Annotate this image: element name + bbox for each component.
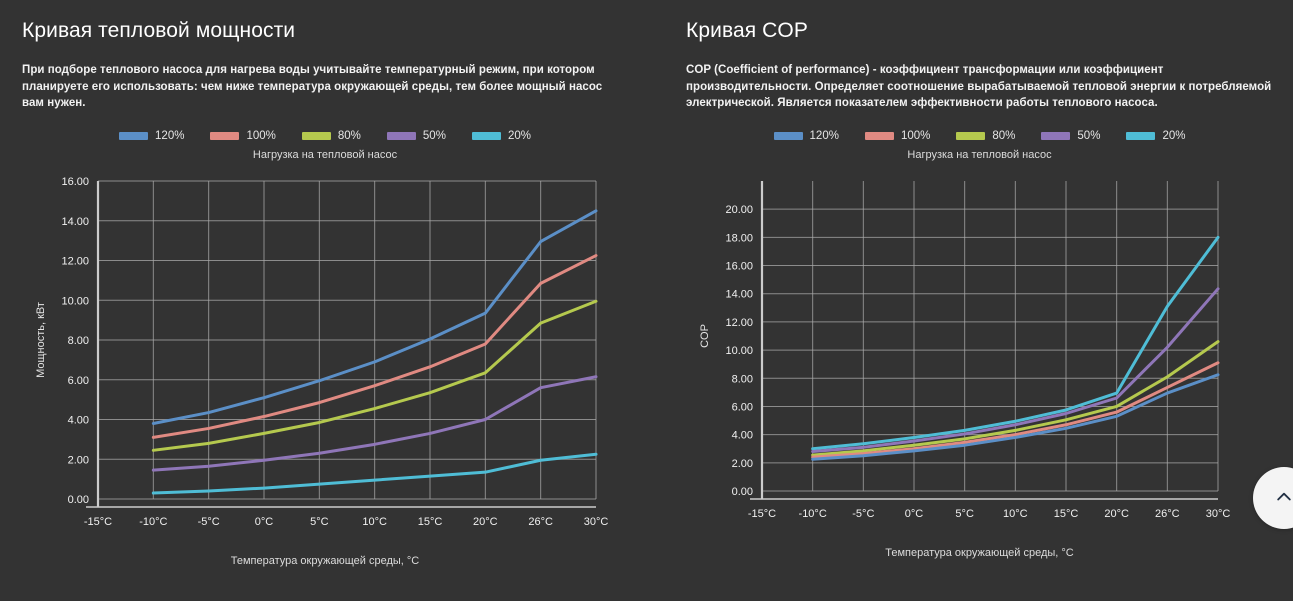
chart-legend: 120%100%80%50%20% [22,130,628,142]
legend-item[interactable]: 80% [302,130,361,142]
y-axis-tick-label: 6.00 [732,401,753,413]
legend-item-label: 50% [1077,130,1100,142]
legend-item[interactable]: 120% [119,130,184,142]
legend-swatch-icon [302,132,331,140]
x-axis-tick-label: -10°C [139,516,167,528]
legend-item-label: 20% [1162,130,1185,142]
legend-swatch-icon [210,132,239,140]
cop-chart-svg: 0.002.004.006.008.0010.0012.0014.0016.00… [686,171,1266,543]
legend-item[interactable]: 50% [1041,130,1100,142]
x-axis-tick-label: -15°C [84,516,112,528]
x-axis-title: Температура окружающей среды, °C [22,555,628,567]
legend-swatch-icon [387,132,416,140]
y-axis-tick-label: 4.00 [68,414,89,426]
legend-item[interactable]: 50% [387,130,446,142]
cop-chart: 0.002.004.006.008.0010.0012.0014.0016.00… [686,171,1273,543]
legend-item-label: 80% [338,130,361,142]
panel-description: COP (Coefficient of performance) - коэфф… [686,62,1273,112]
legend-item-label: 80% [992,130,1015,142]
legend-item[interactable]: 20% [1126,130,1185,142]
y-axis-tick-label: 14.00 [61,215,89,227]
x-axis-tick-label: 20°C [473,516,498,528]
x-axis-tick-label: 5°C [310,516,329,528]
legend-item-label: 50% [423,130,446,142]
legend-swatch-icon [1041,132,1070,140]
cop-panel: Кривая COP COP (Coefficient of performan… [652,0,1293,601]
y-axis-tick-label: 4.00 [732,429,753,441]
y-axis-title: COP [699,324,711,348]
legend-swatch-icon [472,132,501,140]
y-axis-tick-label: 14.00 [725,288,753,300]
x-axis-tick-label: -5°C [198,516,220,528]
x-axis-tick-label: 0°C [905,508,924,520]
heating-capacity-chart-svg: 0.002.004.006.008.0010.0012.0014.0016.00… [22,171,622,551]
y-axis-tick-label: 16.00 [725,260,753,272]
x-axis-tick-label: -10°C [799,508,827,520]
y-axis-tick-label: 10.00 [61,295,89,307]
legend-item[interactable]: 100% [210,130,275,142]
heating-capacity-panel: Кривая тепловой мощности При подборе теп… [0,0,652,601]
y-axis-tick-label: 8.00 [732,373,753,385]
x-axis-tick-label: 10°C [362,516,387,528]
x-axis-tick-label: 26°C [1155,508,1180,520]
legend-item[interactable]: 100% [865,130,930,142]
y-axis-tick-label: 12.00 [61,255,89,267]
x-axis-tick-label: 0°C [255,516,274,528]
x-axis-tick-label: 20°C [1104,508,1129,520]
legend-item-label: 100% [246,130,275,142]
y-axis-tick-label: 0.00 [68,494,89,506]
x-axis-tick-label: 5°C [955,508,974,520]
legend-swatch-icon [1126,132,1155,140]
legend-item-label: 100% [901,130,930,142]
y-axis-tick-label: 12.00 [725,316,753,328]
chart-legend: 120%100%80%50%20% [686,130,1273,142]
chevron-up-icon [1274,487,1293,510]
x-axis-tick-label: 15°C [418,516,443,528]
x-axis-title: Температура окружающей среды, °C [686,547,1273,559]
legend-swatch-icon [119,132,148,140]
legend-caption: Нагрузка на тепловой насос [22,149,628,161]
y-axis-tick-label: 2.00 [68,454,89,466]
page-title: Кривая тепловой мощности [22,18,628,44]
x-axis-tick-label: -5°C [852,508,874,520]
heating-capacity-chart: 0.002.004.006.008.0010.0012.0014.0016.00… [22,171,628,551]
legend-item[interactable]: 20% [472,130,531,142]
y-axis-title: Мощность, кВт [35,302,47,378]
x-axis-tick-label: -15°C [748,508,776,520]
legend-swatch-icon [774,132,803,140]
y-axis-tick-label: 16.00 [61,176,89,188]
legend-item[interactable]: 120% [774,130,839,142]
y-axis-tick-label: 0.00 [732,486,753,498]
legend-caption: Нагрузка на тепловой насос [686,149,1273,161]
page-title: Кривая COP [686,18,1273,44]
page-root: Кривая тепловой мощности При подборе теп… [0,0,1293,601]
y-axis-tick-label: 18.00 [725,232,753,244]
y-axis-tick-label: 8.00 [68,335,89,347]
legend-item-label: 120% [810,130,839,142]
y-axis-tick-label: 20.00 [725,204,753,216]
legend-item-label: 20% [508,130,531,142]
y-axis-tick-label: 2.00 [732,457,753,469]
x-axis-tick-label: 30°C [1206,508,1231,520]
legend-item-label: 120% [155,130,184,142]
x-axis-tick-label: 10°C [1003,508,1028,520]
x-axis-tick-label: 30°C [584,516,609,528]
x-axis-tick-label: 26°C [528,516,553,528]
y-axis-tick-label: 6.00 [68,374,89,386]
legend-swatch-icon [865,132,894,140]
legend-swatch-icon [956,132,985,140]
panel-description: При подборе теплового насоса для нагрева… [22,62,622,112]
y-axis-tick-label: 10.00 [725,345,753,357]
legend-item[interactable]: 80% [956,130,1015,142]
x-axis-tick-label: 15°C [1054,508,1079,520]
